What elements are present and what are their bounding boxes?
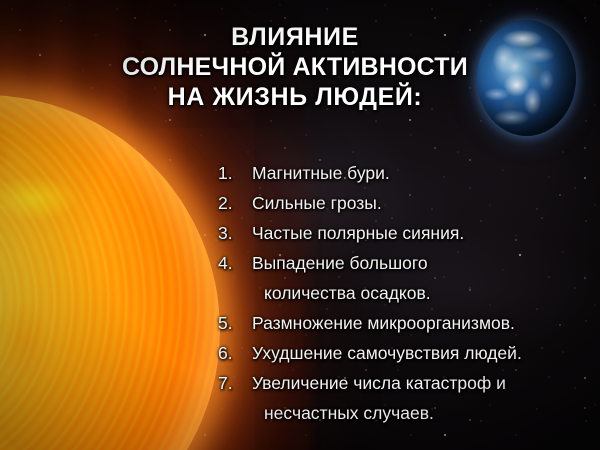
list-item-number: 5. bbox=[218, 308, 252, 338]
slide-canvas: ВЛИЯНИЕ СОЛНЕЧНОЙ АКТИВНОСТИ НА ЖИЗНЬ ЛЮ… bbox=[0, 0, 600, 450]
list-item-number: 2. bbox=[218, 188, 252, 218]
title-line-1: ВЛИЯНИЕ bbox=[60, 22, 530, 52]
list-item-text: Размножение микроорганизмов. bbox=[252, 308, 596, 338]
title-line-2: СОЛНЕЧНОЙ АКТИВНОСТИ bbox=[60, 52, 530, 82]
list-item-number: 6. bbox=[218, 338, 252, 368]
slide-title: ВЛИЯНИЕ СОЛНЕЧНОЙ АКТИВНОСТИ НА ЖИЗНЬ ЛЮ… bbox=[60, 22, 530, 112]
list-item-text: Сильные грозы. bbox=[252, 188, 596, 218]
list-item: 2. Сильные грозы. bbox=[218, 188, 596, 218]
list-item-text-line-1: Увеличение числа катастроф и bbox=[252, 373, 506, 393]
list-item: 5. Размножение микроорганизмов. bbox=[218, 308, 596, 338]
list-item-text: Выпадение большого количества осадков. bbox=[252, 248, 596, 308]
list-item-text: Магнитные бури. bbox=[252, 158, 596, 188]
list-item: 6. Ухудшение самочувствия людей. bbox=[218, 338, 596, 368]
list-item: 1. Магнитные бури. bbox=[218, 158, 596, 188]
list-item: 4. Выпадение большого количества осадков… bbox=[218, 248, 596, 308]
list-item-number: 4. bbox=[218, 248, 252, 278]
list-item: 7. Увеличение числа катастроф и несчастн… bbox=[218, 368, 596, 428]
list-item-text: Увеличение числа катастроф и несчастных … bbox=[252, 368, 596, 428]
list-item-text-line-1: Выпадение большого bbox=[252, 253, 428, 273]
title-line-3: НА ЖИЗНЬ ЛЮДЕЙ: bbox=[60, 82, 530, 112]
list-item-number: 3. bbox=[218, 218, 252, 248]
list-item-text-line-2: количества осадков. bbox=[252, 278, 596, 308]
list-item-text-line-2: несчастных случаев. bbox=[252, 398, 596, 428]
list-item-text: Частые полярные сияния. bbox=[252, 218, 596, 248]
effects-list: 1. Магнитные бури. 2. Сильные грозы. 3. … bbox=[218, 158, 596, 428]
list-item: 3. Частые полярные сияния. bbox=[218, 218, 596, 248]
list-item-text: Ухудшение самочувствия людей. bbox=[252, 338, 596, 368]
list-item-number: 1. bbox=[218, 158, 252, 188]
list-item-number: 7. bbox=[218, 368, 252, 398]
